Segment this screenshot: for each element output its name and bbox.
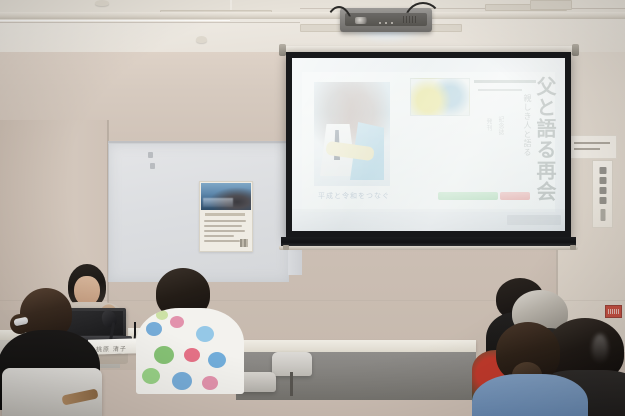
ceiling-rail xyxy=(0,12,625,19)
poster-text-line xyxy=(204,220,246,222)
projector-indicator-icon xyxy=(385,22,387,24)
screen-bracket xyxy=(279,44,286,56)
chair-leg xyxy=(290,372,293,396)
sign-glyph xyxy=(600,209,605,221)
torso xyxy=(472,374,588,416)
slide-red-button[interactable] xyxy=(500,192,530,200)
sign-glyph xyxy=(599,167,606,174)
projector-indicator-icon xyxy=(379,22,381,24)
shirt-pattern xyxy=(196,326,214,342)
poster-text-line xyxy=(204,235,234,237)
slide-vertical-title: 父と語る再会 xyxy=(534,76,555,202)
ceiling-seam xyxy=(0,22,300,23)
screen-weight-bar xyxy=(281,237,576,246)
poster-photo xyxy=(201,183,251,210)
sign-glyph xyxy=(599,187,606,194)
slide-vertical-subtitle: 親しき人と語る xyxy=(522,94,532,157)
ceiling-vent xyxy=(530,0,572,10)
slide-main-photo xyxy=(314,82,390,186)
ceiling-sensor-icon xyxy=(196,36,207,43)
sign-text-line xyxy=(574,142,610,144)
whiteboard-clip-icon xyxy=(148,152,153,158)
presentation-slide: 父と語る再会 親しき人と語る 記念誌 発刊 平成と令和をつなぐ xyxy=(292,58,565,231)
poster-text-line xyxy=(204,225,242,227)
slide-thumbnail-photo xyxy=(410,78,470,116)
wall-sign-vertical xyxy=(592,160,613,228)
slide-green-button[interactable] xyxy=(438,192,498,200)
sign-glyph xyxy=(599,197,606,204)
projection-screen-surface: 父と語る再会 親しき人と語る 記念誌 発刊 平成と令和をつなぐ xyxy=(292,58,565,231)
hair-highlight xyxy=(592,334,608,364)
slide-taskbar xyxy=(507,215,561,225)
screen-bracket xyxy=(572,44,579,56)
sign-text-line xyxy=(574,148,600,150)
emergency-exit-sign-icon xyxy=(605,305,622,318)
audience-member-aloha-shirt xyxy=(140,268,250,416)
whiteboard-clip-icon xyxy=(150,163,155,169)
torso xyxy=(136,308,244,394)
poster-text-line xyxy=(204,240,240,242)
qr-code-icon xyxy=(240,239,248,247)
shirt-pattern xyxy=(142,368,160,384)
slide-column-text: 発刊 xyxy=(484,118,493,131)
shirt-pattern xyxy=(172,372,192,390)
screen-hook xyxy=(283,245,289,250)
classroom-scene: 父と語る再会 親しき人と語る 記念誌 発刊 平成と令和をつなぐ xyxy=(0,0,625,416)
shirt-pattern xyxy=(208,352,226,368)
sign-glyph xyxy=(599,177,606,184)
poster-text-line xyxy=(204,230,245,232)
screen-hook xyxy=(570,245,576,250)
slide-subheadline-bar xyxy=(478,89,522,91)
projector-lens-icon xyxy=(355,17,367,24)
slide-caption: 平成と令和をつなぐ xyxy=(318,191,390,201)
screen-bottom-trim xyxy=(279,246,578,250)
wall-sign-small xyxy=(569,135,617,159)
shirt-pattern xyxy=(154,346,174,364)
event-poster[interactable] xyxy=(199,181,253,252)
shirt-pattern xyxy=(202,376,218,390)
shirt-pattern xyxy=(146,322,162,336)
shirt-pattern xyxy=(156,310,168,320)
projector-indicator-icon xyxy=(391,22,393,24)
audience-table xyxy=(226,340,476,352)
slide-column-text: 記念誌 xyxy=(496,116,505,136)
slide-headline-bar xyxy=(474,80,536,83)
audience-member-hair-bun xyxy=(486,322,586,416)
shirt-pattern xyxy=(170,316,184,328)
ceiling-sensor-icon xyxy=(95,0,109,6)
shirt-pattern xyxy=(184,348,200,362)
poster-headline xyxy=(205,213,245,216)
